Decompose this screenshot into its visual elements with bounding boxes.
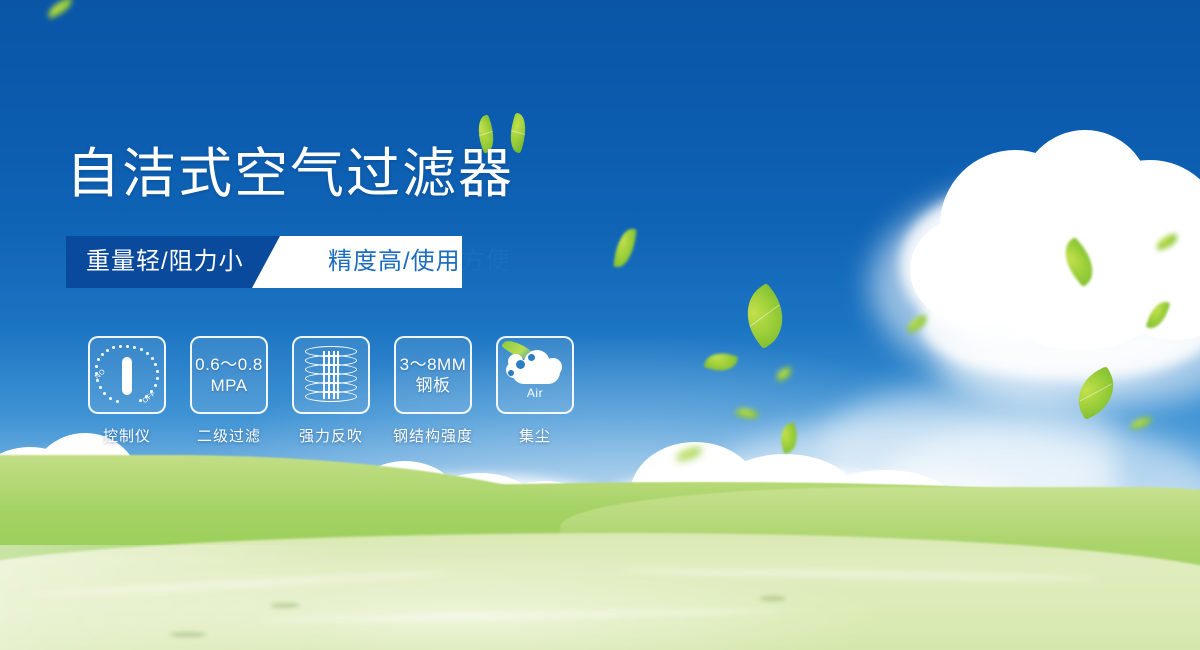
feature-icon-box: 0.6～0.8 MPA — [190, 336, 268, 414]
feature-item-control[interactable]: NO OFF 控制仪 — [76, 336, 178, 446]
pressure-line-1: 0.6～0.8 — [195, 354, 263, 375]
grass-shadow — [760, 596, 786, 601]
feature-label: 控制仪 — [103, 425, 151, 446]
feature-icon-box: Air — [496, 336, 574, 414]
steel-plate-text-icon: 3～8MM 钢板 — [400, 354, 467, 396]
product-banner: 自洁式空气过滤器 重量轻/阻力小 精度高/使用方便 — [0, 0, 1200, 650]
feature-label: 二级过滤 — [197, 425, 261, 446]
pressure-text-icon: 0.6～0.8 MPA — [195, 354, 263, 396]
grass-shadow — [170, 632, 206, 637]
pressure-line-2: MPA — [195, 375, 263, 396]
feature-item-blowback[interactable]: 强力反吹 — [280, 336, 382, 446]
feature-item-dust[interactable]: Air 集尘 — [484, 336, 586, 446]
feature-list: NO OFF 控制仪 0.6～0.8 MPA 二级过滤 — [76, 336, 586, 446]
feature-icon-box: 3～8MM 钢板 — [394, 336, 472, 414]
grass-shadow — [270, 603, 300, 608]
steel-line-2: 钢板 — [400, 375, 467, 396]
feature-icon-box: NO OFF — [88, 336, 166, 414]
steel-line-1: 3～8MM — [400, 354, 467, 375]
feature-item-pressure[interactable]: 0.6～0.8 MPA 二级过滤 — [178, 336, 280, 446]
page-title: 自洁式空气过滤器 — [66, 144, 514, 204]
air-cloud-icon: Air — [504, 346, 566, 404]
feature-label: 强力反吹 — [299, 425, 363, 446]
subtitle-left-text: 重量轻/阻力小 — [86, 248, 244, 276]
feature-label: 钢结构强度 — [393, 425, 473, 446]
feature-icon-box — [292, 336, 370, 414]
subtitle-right-text: 精度高/使用方便 — [328, 248, 511, 276]
subtitle-bar: 重量轻/阻力小 精度高/使用方便 — [66, 236, 462, 288]
control-dial-icon: NO OFF — [96, 344, 158, 406]
feature-label: 集尘 — [519, 425, 551, 446]
cloud-cumulus-right — [880, 120, 1200, 400]
filter-cartridge-icon — [305, 346, 357, 404]
feature-item-steel[interactable]: 3～8MM 钢板 钢结构强度 — [382, 336, 484, 446]
dial-pointer — [122, 357, 132, 395]
dial-label-off: OFF — [142, 390, 158, 405]
air-label: Air — [504, 386, 566, 400]
